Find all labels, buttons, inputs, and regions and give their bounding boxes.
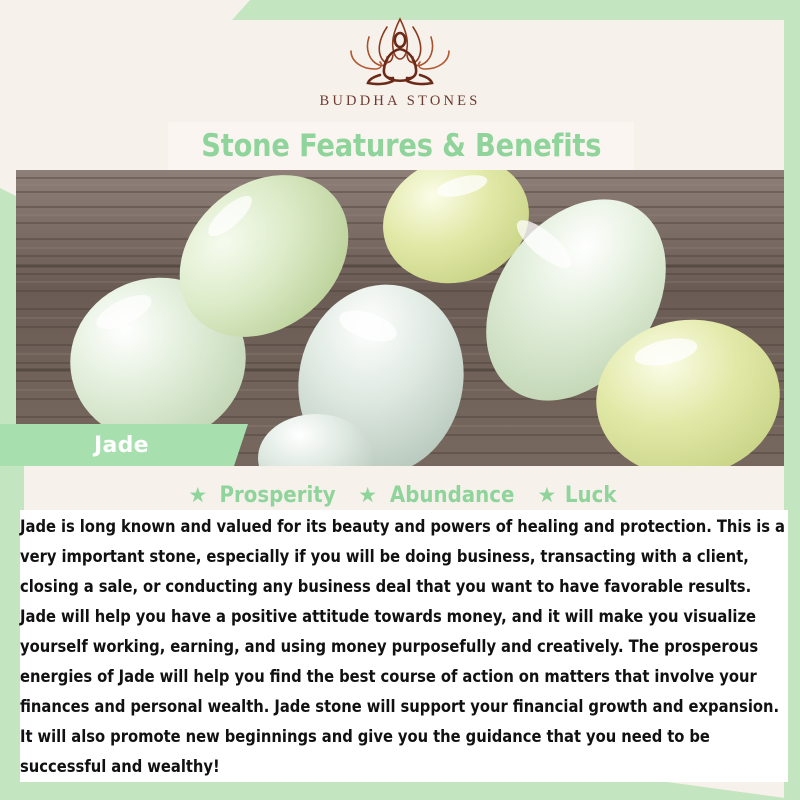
benefit-item-prosperity: ★ Prosperity — [188, 483, 342, 508]
description-text: Jade is long known and valued for its be… — [20, 512, 787, 782]
infographic-page: BUDDHA STONES Stone Features & Benefits — [0, 0, 800, 800]
brand-header: BUDDHA STONES — [0, 0, 800, 122]
stone-name: Jade — [94, 433, 149, 458]
star-icon: ★ — [537, 485, 556, 506]
stone-name-banner: Jade — [0, 424, 248, 466]
benefit-label: Prosperity — [220, 483, 336, 508]
brand-name: BUDDHA STONES — [320, 93, 481, 110]
description-block: Jade is long known and valued for its be… — [20, 510, 788, 782]
benefit-item-luck: ★ Luck — [537, 483, 619, 508]
title-banner: Stone Features & Benefits — [168, 122, 634, 170]
star-icon: ★ — [188, 485, 207, 506]
benefit-label: Abundance — [390, 483, 514, 508]
lotus-meditation-icon — [325, 13, 475, 87]
stone-photo — [16, 170, 784, 466]
benefit-label: Luck — [565, 483, 617, 508]
benefit-item-abundance: ★ Abundance — [358, 483, 521, 508]
star-icon: ★ — [358, 485, 377, 506]
benefits-row: ★ Prosperity ★ Abundance ★ Luck — [24, 478, 784, 512]
page-title: Stone Features & Benefits — [201, 128, 601, 164]
